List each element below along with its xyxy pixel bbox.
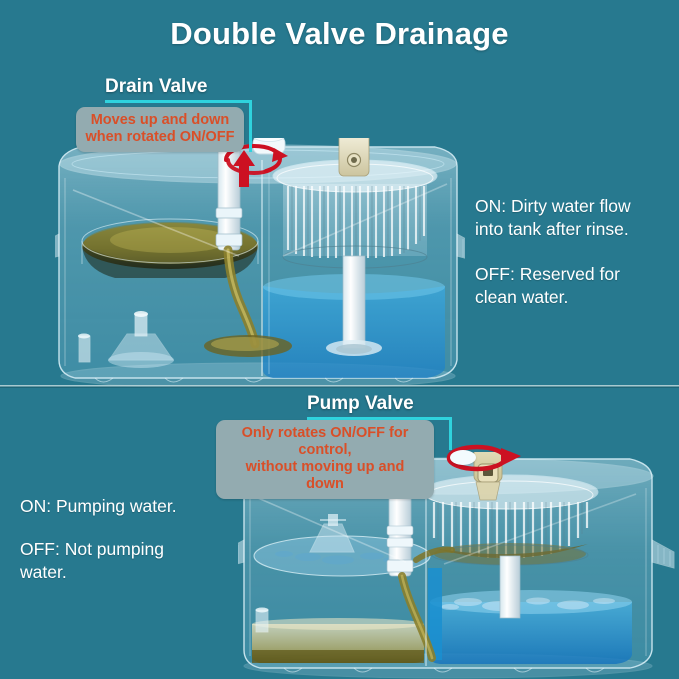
pump-valve-callout: Only rotates ON/OFF for control, without… xyxy=(216,420,434,499)
top-drain-valve-up-arrow xyxy=(231,148,257,188)
drain-valve-leader-vertical xyxy=(249,100,252,152)
drain-valve-label: Drain Valve xyxy=(105,76,230,103)
diagram-page: Double Valve Drainage xyxy=(0,0,679,679)
pump-valve-leader-vertical xyxy=(449,417,452,450)
bottom-pump-valve-knob xyxy=(450,450,476,465)
page-title: Double Valve Drainage xyxy=(0,16,679,52)
drain-valve-underline xyxy=(105,100,230,103)
drain-valve-label-text: Drain Valve xyxy=(105,76,207,97)
top-description-on: ON: Dirty water flow into tank after rin… xyxy=(475,195,670,241)
bottom-description-on: ON: Pumping water. xyxy=(20,495,230,518)
top-description-off: OFF: Reserved for clean water. xyxy=(475,263,670,309)
drain-valve-callout: Moves up and down when rotated ON/OFF xyxy=(76,107,244,152)
pump-valve-label-text: Pump Valve xyxy=(307,393,414,414)
pump-valve-label: Pump Valve xyxy=(307,393,429,420)
panel-divider xyxy=(0,385,679,388)
bottom-description-off: OFF: Not pumping water. xyxy=(20,538,230,584)
